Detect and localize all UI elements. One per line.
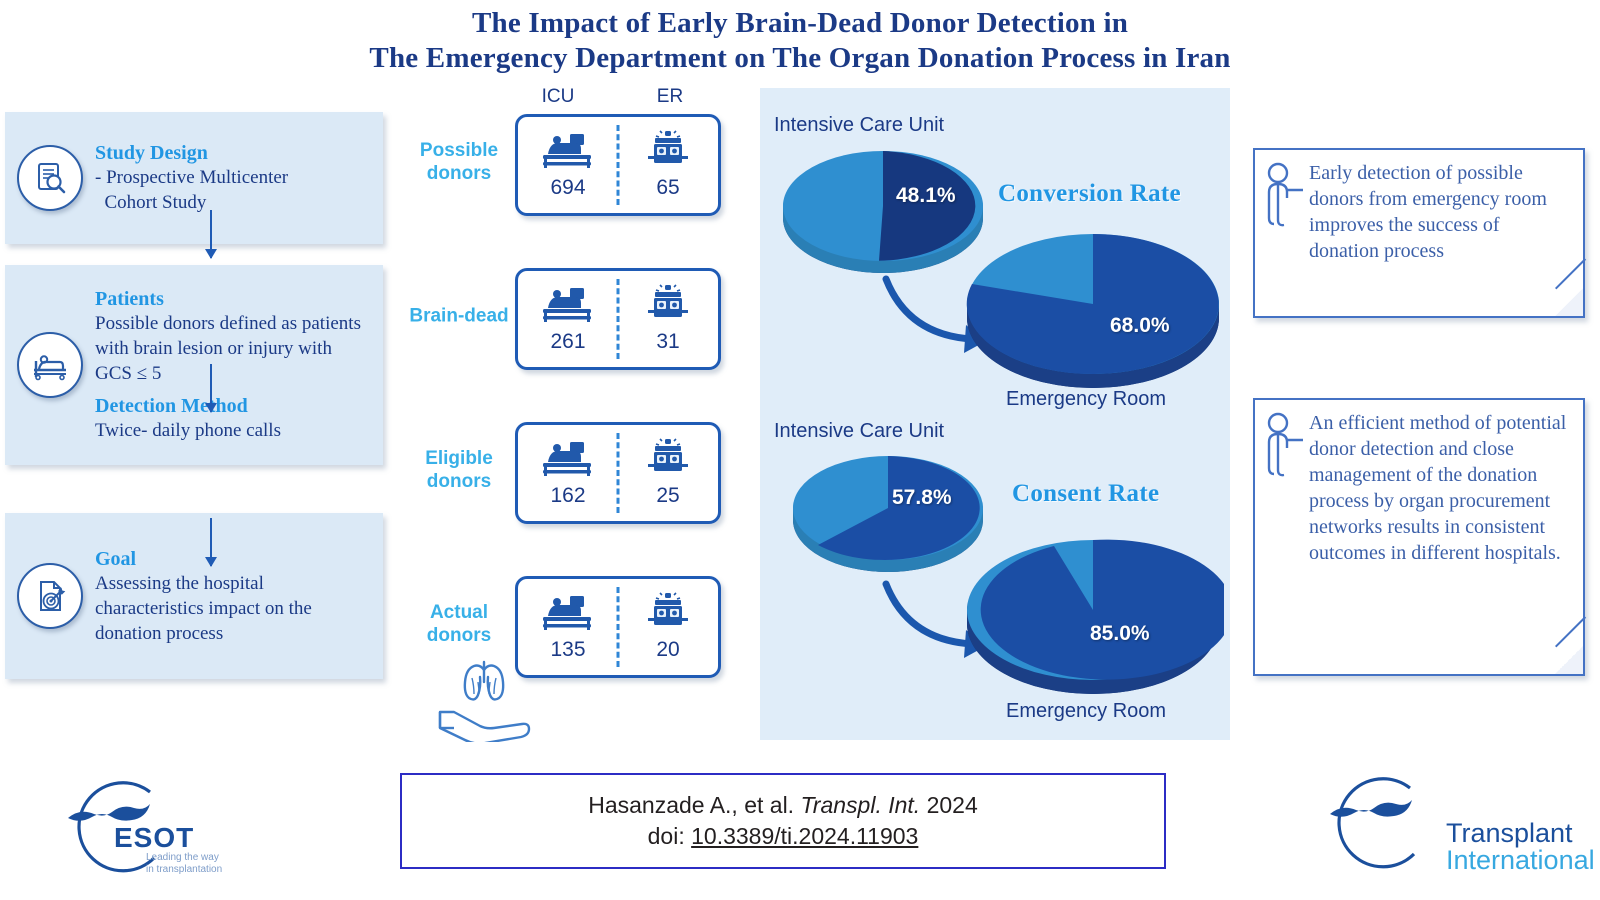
detection-method-heading: Detection Method [95,394,373,418]
person-pointing-icon [1263,410,1305,664]
conversion-icu-value: 48.1% [896,184,956,208]
icu-bed-icon [540,130,596,170]
flow-box-divider [617,125,620,205]
er-ambulance-icon [645,438,691,483]
esot-tagline-line-2: in transplantation [146,864,222,876]
citation-reference: Hasanzade A., et al. Transpl. Int. 2024 [588,792,978,819]
er-ambulance-icon [645,130,691,175]
transplant-international-logo: Transplant International [1318,762,1568,880]
flow-row-4-er-count: 20 [656,638,679,662]
citation-journal: Transpl. Int. [800,792,920,818]
esot-tagline: Leading the way in transplantation [146,852,222,876]
conclusion-note-1: Early detection of possible donors from … [1253,148,1585,318]
conclusion-note-2: An efficient method of potential donor d… [1253,398,1585,676]
goal-heading: Goal [95,547,373,571]
icu-bed-icon [540,438,596,483]
flow-row-3-box: 162 25 [515,422,721,524]
esot-wordmark: ESOT [114,822,194,854]
citation-doi-line: doi: 10.3389/ti.2024.11903 [648,823,919,850]
patients-card: Patients Possible donors defined as pati… [5,265,383,465]
page-title: The Impact of Early Brain-Dead Donor Det… [0,6,1600,76]
flow-row-4-label: Actualdonors [405,601,513,647]
document-search-icon [17,145,83,211]
consent-er-label: Emergency Room [1006,700,1166,723]
infographic-root: The Impact of Early Brain-Dead Donor Det… [0,0,1600,900]
er-ambulance-icon [645,592,691,632]
consent-icu-label: Intensive Care Unit [774,420,944,443]
study-design-heading: Study Design [95,141,373,165]
flow-row-4-icu-count: 135 [550,638,585,662]
flow-row-4-box: 135 20 [515,576,721,678]
flow-arrow-1 [210,210,212,258]
flow-row-2-label: Brain-dead [405,305,513,328]
er-ambulance-icon [645,284,691,324]
conversion-er-pie: 68.0% [962,226,1224,399]
flow-row-3-er-count: 25 [656,484,679,508]
person-pointing-icon [1263,160,1305,306]
esot-tagline-line-1: Leading the way [146,852,222,864]
ti-wordmark-line-2: International [1446,845,1595,876]
conclusion-note-1-text: Early detection of possible donors from … [1309,160,1571,306]
flow-row-2-icu: 261 [518,271,618,367]
flow-row-1-icu-count: 694 [550,176,585,200]
flow-row-3-er: 25 [618,425,718,521]
flow-row-1-label: Possibledonors [405,139,513,185]
doi-prefix: doi: [648,823,691,849]
flow-arrow-3 [210,518,212,566]
conversion-icu-pie: 48.1% [778,146,988,281]
er-ambulance-icon [645,284,691,329]
flow-row-1-icu: 694 [518,117,618,213]
conversion-er-label: Emergency Room [1006,388,1166,411]
flow-row-3-icu-count: 162 [550,484,585,508]
flow-row-3: Eligibledonors 162 25 [405,422,715,518]
flow-row-1-er: 65 [618,117,718,213]
title-line-2: The Emergency Department on The Organ Do… [0,41,1600,76]
hand-holding-lungs-icon [432,650,542,747]
study-design-card: Study Design - Prospective Multicenter C… [5,112,383,244]
conversion-icu-label: Intensive Care Unit [774,114,944,137]
doi-link[interactable]: 10.3389/ti.2024.11903 [691,823,918,849]
er-ambulance-icon [645,438,691,478]
study-design-text: - Prospective Multicenter Cohort Study [95,165,373,215]
patients-text: Possible donors defined as patients with… [95,311,373,386]
esot-logo: ESOT Leading the way in transplantation [50,762,226,880]
flow-row-4-er: 20 [618,579,718,675]
consent-er-pie: 85.0% [962,530,1224,705]
flow-row-1-box: 694 65 [515,114,721,216]
flow-row-2-er-count: 31 [656,330,679,354]
consent-icu-value: 57.8% [892,486,952,510]
flow-header-er: ER [630,86,710,108]
icu-bed-icon [540,592,596,632]
goal-card: Goal Assessing the hospital characterist… [5,513,383,679]
detection-method-text: Twice- daily phone calls [95,418,373,443]
flow-row-2-icu-count: 261 [550,330,585,354]
icu-bed-icon [540,438,596,478]
icu-bed-icon [540,284,596,329]
goal-text: Assessing the hospital characteristics i… [95,571,373,646]
flow-row-2: Brain-dead 261 31 [405,268,715,364]
consent-icu-pie: 57.8% [788,450,988,581]
flow-header-icu: ICU [518,86,598,108]
conversion-er-value: 68.0% [1110,314,1170,338]
flow-row-1: Possibledonors 694 65 [405,114,715,210]
flow-arrow-2 [210,364,212,412]
consent-rate-title: Consent Rate [1012,480,1159,508]
citation-box: Hasanzade A., et al. Transpl. Int. 2024 … [400,773,1166,869]
citation-authors: Hasanzade A., et al. [588,792,794,818]
page-fold-corner-icon [1555,646,1585,676]
goal-body: Goal Assessing the hospital characterist… [95,547,383,646]
patient-in-bed-icon [17,332,83,398]
er-ambulance-icon [645,592,691,637]
icu-bed-icon [540,592,596,637]
icu-bed-icon [540,284,596,324]
study-design-body: Study Design - Prospective Multicenter C… [95,141,383,215]
icu-bed-icon [540,130,596,175]
conclusion-note-2-text: An efficient method of potential donor d… [1309,410,1571,664]
flow-row-2-box: 261 31 [515,268,721,370]
patients-heading: Patients [95,287,373,311]
conversion-rate-title: Conversion Rate [998,180,1181,208]
citation-year: 2024 [927,792,978,818]
page-fold-corner-icon [1555,288,1585,318]
flow-row-3-icu: 162 [518,425,618,521]
flow-box-divider [617,433,620,513]
flow-row-2-er: 31 [618,271,718,367]
flow-row-1-er-count: 65 [656,176,679,200]
flow-box-divider [617,279,620,359]
er-ambulance-icon [645,130,691,170]
patients-body: Patients Possible donors defined as pati… [95,287,383,443]
flow-box-divider [617,587,620,667]
title-line-1: The Impact of Early Brain-Dead Donor Det… [0,6,1600,41]
document-target-icon [17,563,83,629]
consent-er-value: 85.0% [1090,622,1150,646]
flow-row-3-label: Eligibledonors [405,447,513,493]
pie-charts-panel: Intensive Care Unit 48.1% Conversion Rat… [760,88,1230,740]
